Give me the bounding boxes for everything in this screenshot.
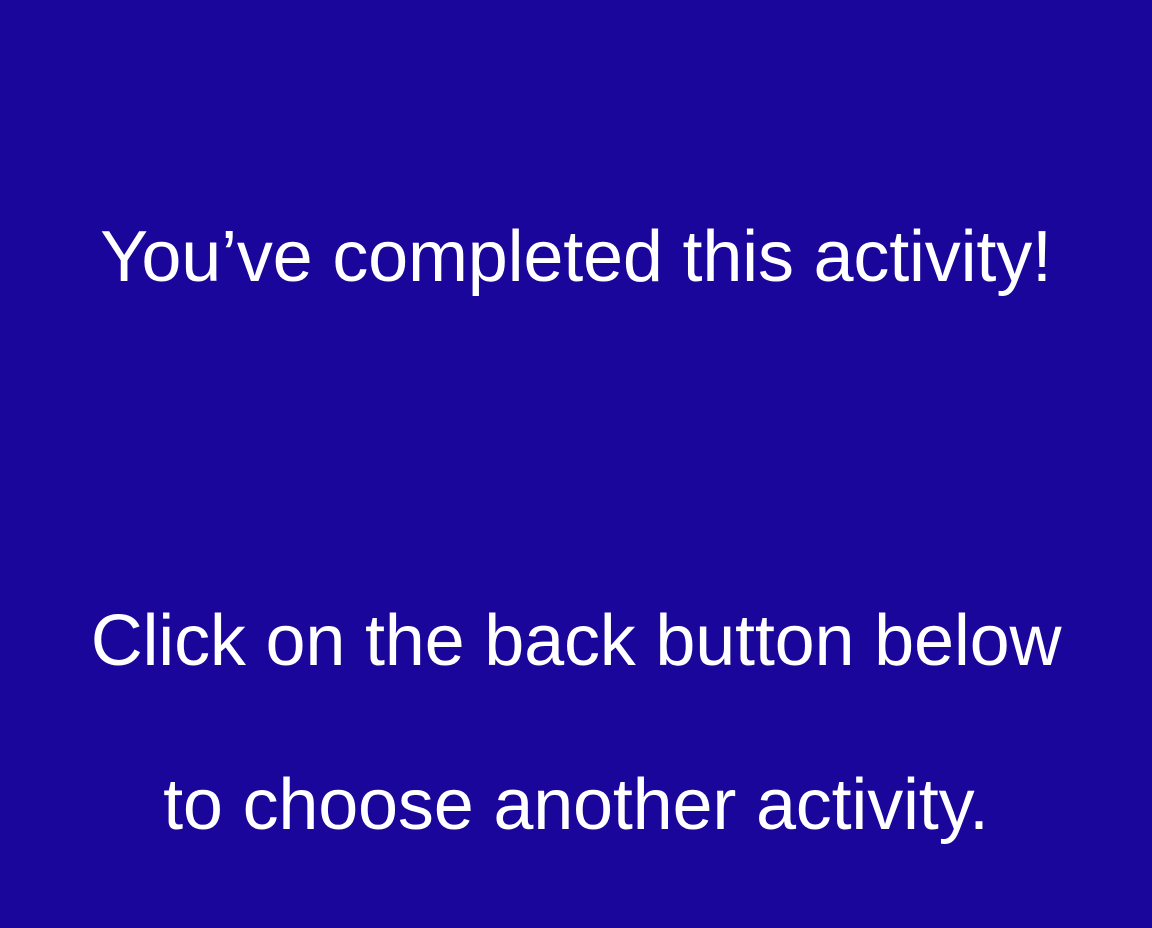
completion-headline-text: You’ve completed this activity!	[0, 215, 1152, 299]
instruction-line-two: to choose another activity.	[0, 764, 1152, 846]
back-button-instruction: Click on the back button below to choose…	[0, 518, 1152, 928]
completion-headline: You’ve completed this activity!	[0, 131, 1152, 383]
instruction-line-one: Click on the back button below	[0, 600, 1152, 682]
activity-complete-slide: You’ve completed this activity! Click on…	[0, 0, 1152, 758]
